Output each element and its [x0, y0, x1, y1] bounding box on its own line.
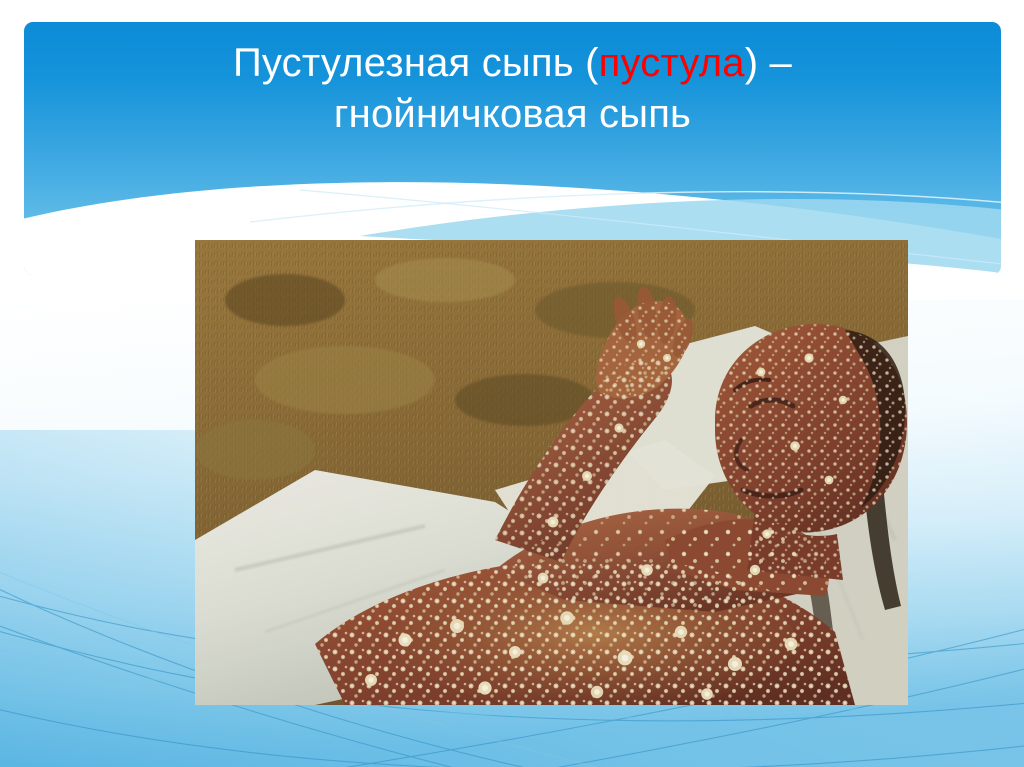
slide-title: Пустулезная сыпь (пустула) – гнойничкова… [25, 22, 1000, 182]
title-suffix: ) – [745, 41, 792, 85]
photo-grain [195, 240, 908, 705]
title-prefix: Пустулезная сыпь ( [233, 41, 599, 85]
slide: Пустулезная сыпь (пустула) – гнойничкова… [0, 0, 1024, 767]
clinical-photo-image [195, 240, 908, 705]
title-line-1: Пустулезная сыпь (пустула) – [233, 38, 792, 89]
banner-wave-hairline [250, 192, 1024, 222]
title-line-2: гнойничковая сыпь [334, 89, 691, 140]
clinical-photo [195, 240, 908, 705]
title-accent: пустула [599, 41, 745, 85]
